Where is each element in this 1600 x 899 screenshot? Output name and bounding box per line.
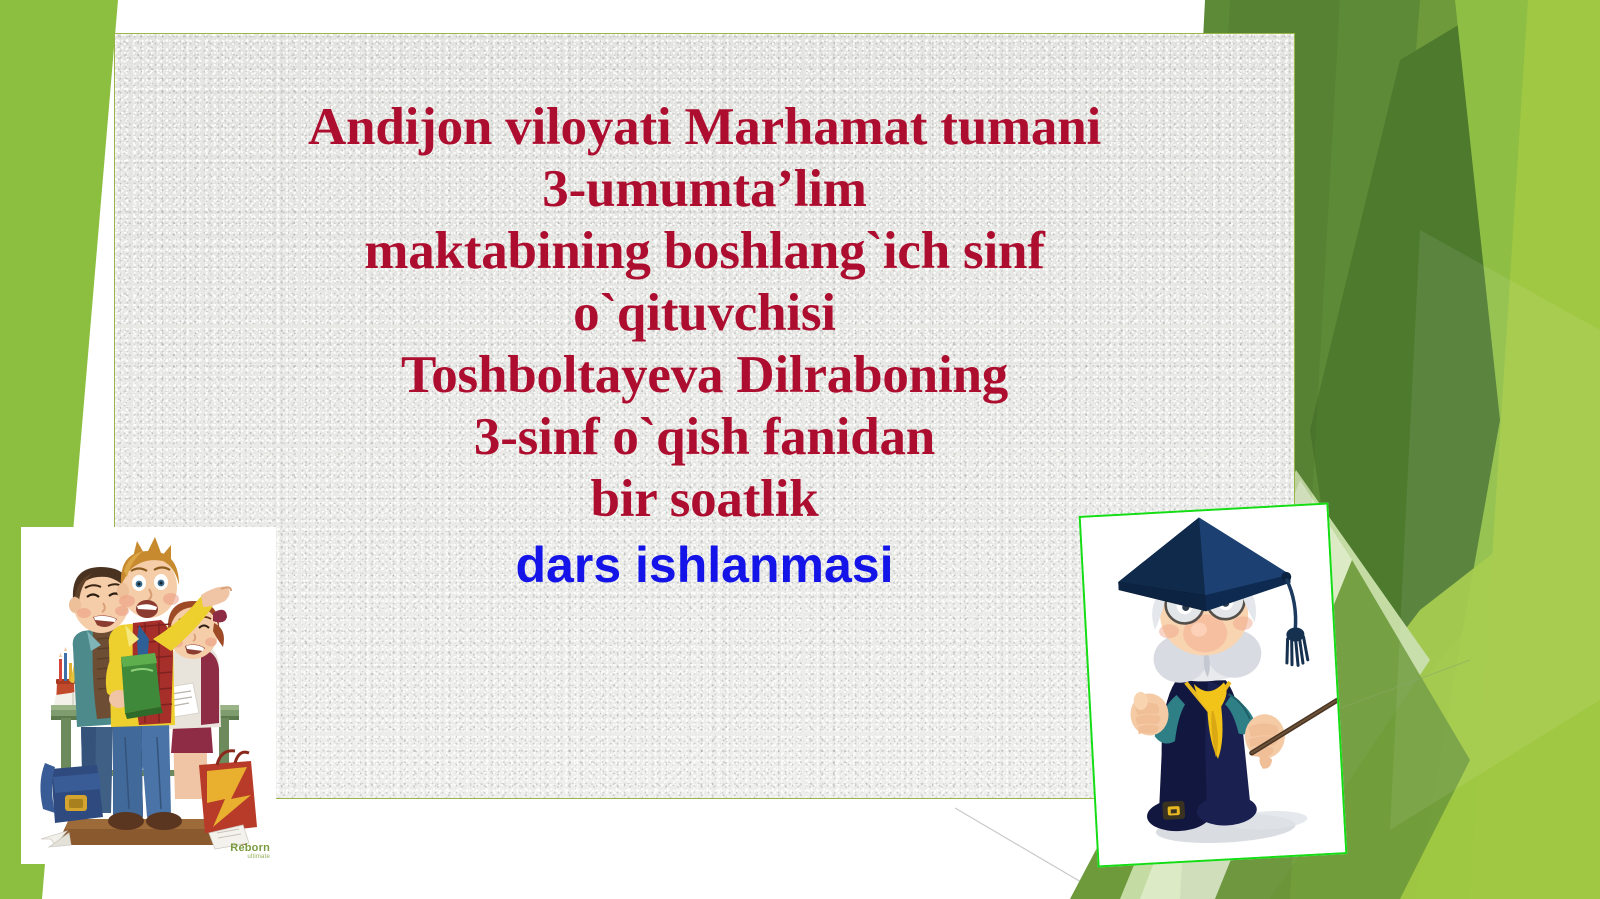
professor-illustration [1081,505,1345,866]
title-line-5: Toshboltayeva Dilraboning [114,344,1295,406]
presentation-slide: Andijon viloyati Marhamat tumani 3-umumt… [0,0,1600,899]
watermark: Reborn ultimate [230,843,270,860]
title-line-4: o`qituvchisi [114,282,1295,344]
schoolchildren-image: Reborn ultimate [21,527,276,864]
title-line-1: Andijon viloyati Marhamat tumani [114,96,1295,158]
title-line-2: 3-umumta’lim [114,158,1295,220]
title-line-3: maktabining boshlang`ich sinf [114,220,1295,282]
professor-image [1079,502,1348,867]
title-line-6: 3-sinf o`qish fanidan [114,406,1295,468]
schoolchildren-illustration [21,527,276,864]
